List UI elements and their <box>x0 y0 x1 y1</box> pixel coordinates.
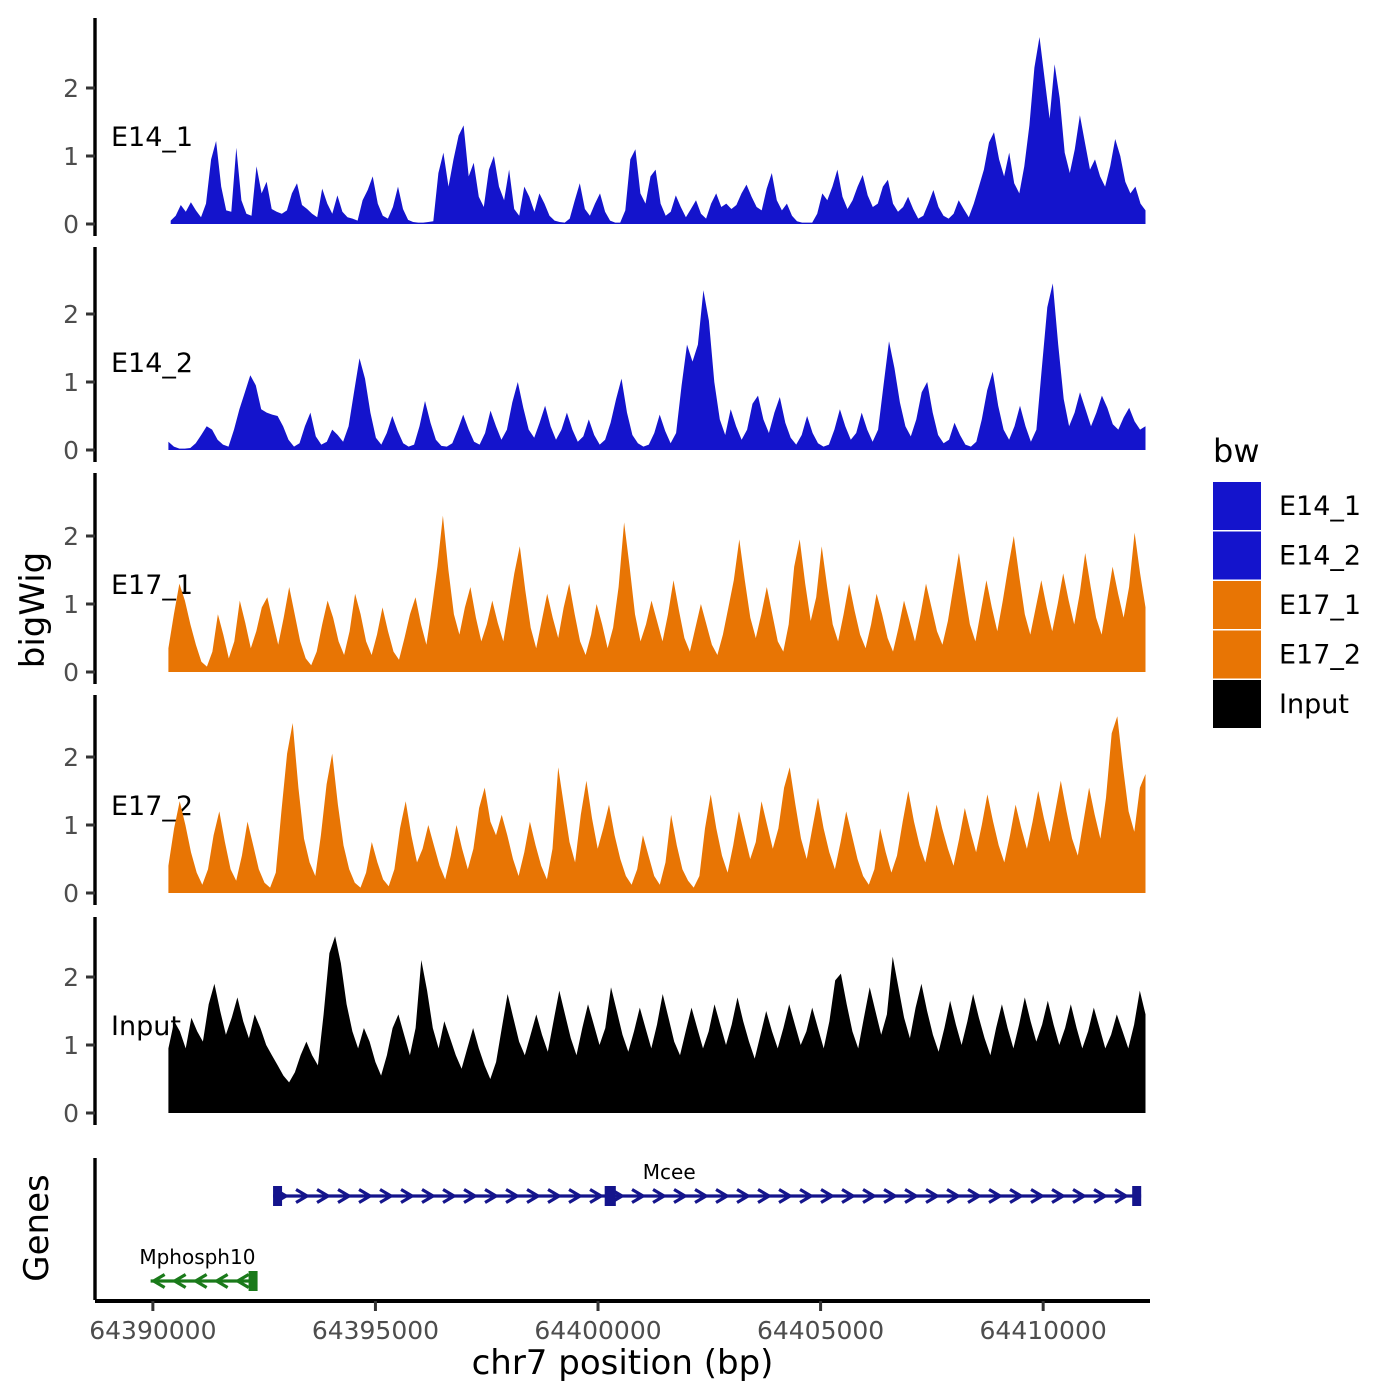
track-panel-E14_1: 012E14_1 <box>63 18 1145 239</box>
track-panel-E14_2: 012E14_2 <box>63 247 1145 465</box>
legend-item-Input[interactable]: Input <box>1213 680 1349 728</box>
legend-swatch <box>1213 680 1261 728</box>
gene-exon <box>605 1186 616 1206</box>
legend-swatch <box>1213 631 1261 679</box>
y-tick-label: 1 <box>63 368 79 397</box>
legend-swatch <box>1213 482 1261 530</box>
legend-swatch <box>1213 581 1261 629</box>
legend-label: E17_1 <box>1279 590 1361 621</box>
gene-Mphosph10[interactable]: Mphosph10 <box>139 1245 257 1291</box>
y-tick-label: 0 <box>63 879 79 908</box>
x-axis-title: chr7 position (bp) <box>472 1343 774 1383</box>
track-panel-Input: 012Input <box>63 917 1145 1128</box>
track-name-label: E14_2 <box>111 348 193 379</box>
legend-label: E14_2 <box>1279 541 1361 572</box>
y-tick-label: 2 <box>63 74 79 103</box>
gene-exon <box>249 1271 258 1291</box>
y-tick-label: 1 <box>63 1031 79 1060</box>
genes-axis-title: Genes <box>17 1174 57 1281</box>
gene-name-label: Mcee <box>643 1160 696 1184</box>
track-panel-E17_2: 012E17_2 <box>63 695 1145 908</box>
track-area-Input <box>168 936 1145 1113</box>
track-area-E17_2 <box>168 716 1145 893</box>
track-area-E17_1 <box>168 516 1145 672</box>
x-tick-label: 64395000 <box>312 1316 439 1345</box>
legend: bwE14_1E14_2E17_1E17_2Input <box>1213 432 1361 728</box>
y-tick-label: 0 <box>63 210 79 239</box>
y-tick-label: 2 <box>63 522 79 551</box>
x-tick-label: 64390000 <box>89 1316 216 1345</box>
track-panel-E17_1: 012E17_1 <box>63 473 1145 687</box>
y-tick-label: 2 <box>63 300 79 329</box>
legend-label: E17_2 <box>1279 640 1361 671</box>
legend-item-E14_1[interactable]: E14_1 <box>1213 482 1361 530</box>
genome-browser-figure: 012E14_1012E14_2012E17_1012E17_2012Input… <box>0 0 1400 1400</box>
x-tick-label: 64400000 <box>534 1316 661 1345</box>
x-tick-label: 64405000 <box>757 1316 884 1345</box>
y-tick-label: 2 <box>63 963 79 992</box>
legend-label: Input <box>1279 689 1349 720</box>
y-tick-label: 0 <box>63 1099 79 1128</box>
y-tick-label: 0 <box>63 436 79 465</box>
legend-title: bw <box>1213 432 1259 470</box>
x-tick-label: 64410000 <box>980 1316 1107 1345</box>
y-tick-label: 1 <box>63 142 79 171</box>
axis-titles: bigWigGeneschr7 position (bp) <box>13 552 773 1383</box>
gene-name-label: Mphosph10 <box>139 1245 255 1269</box>
track-panels: 012E14_1012E14_2012E17_1012E17_2012Input <box>63 18 1145 1128</box>
track-name-label: E14_1 <box>111 122 193 153</box>
gene-exon <box>1132 1186 1141 1206</box>
y-tick-label: 1 <box>63 590 79 619</box>
x-axis: 6439000064395000644000006440500064410000 <box>89 1301 1150 1345</box>
legend-item-E17_2[interactable]: E17_2 <box>1213 631 1361 679</box>
track-area-E14_2 <box>168 283 1145 450</box>
legend-item-E17_1[interactable]: E17_1 <box>1213 581 1361 629</box>
track-name-label: Input <box>111 1011 181 1042</box>
legend-label: E14_1 <box>1279 491 1361 522</box>
y-axis-title: bigWig <box>13 552 53 669</box>
track-area-E14_1 <box>171 37 1146 224</box>
y-tick-label: 0 <box>63 658 79 687</box>
gene-Mcee[interactable]: Mcee <box>273 1160 1141 1206</box>
gene-exon <box>273 1186 282 1206</box>
y-tick-label: 2 <box>63 743 79 772</box>
legend-item-E14_2[interactable]: E14_2 <box>1213 532 1361 580</box>
y-tick-label: 1 <box>63 811 79 840</box>
genes-panel: MceeMphosph10 <box>95 1158 1141 1300</box>
legend-swatch <box>1213 532 1261 580</box>
figure-root: 012E14_1012E14_2012E17_1012E17_2012Input… <box>0 0 1400 1400</box>
